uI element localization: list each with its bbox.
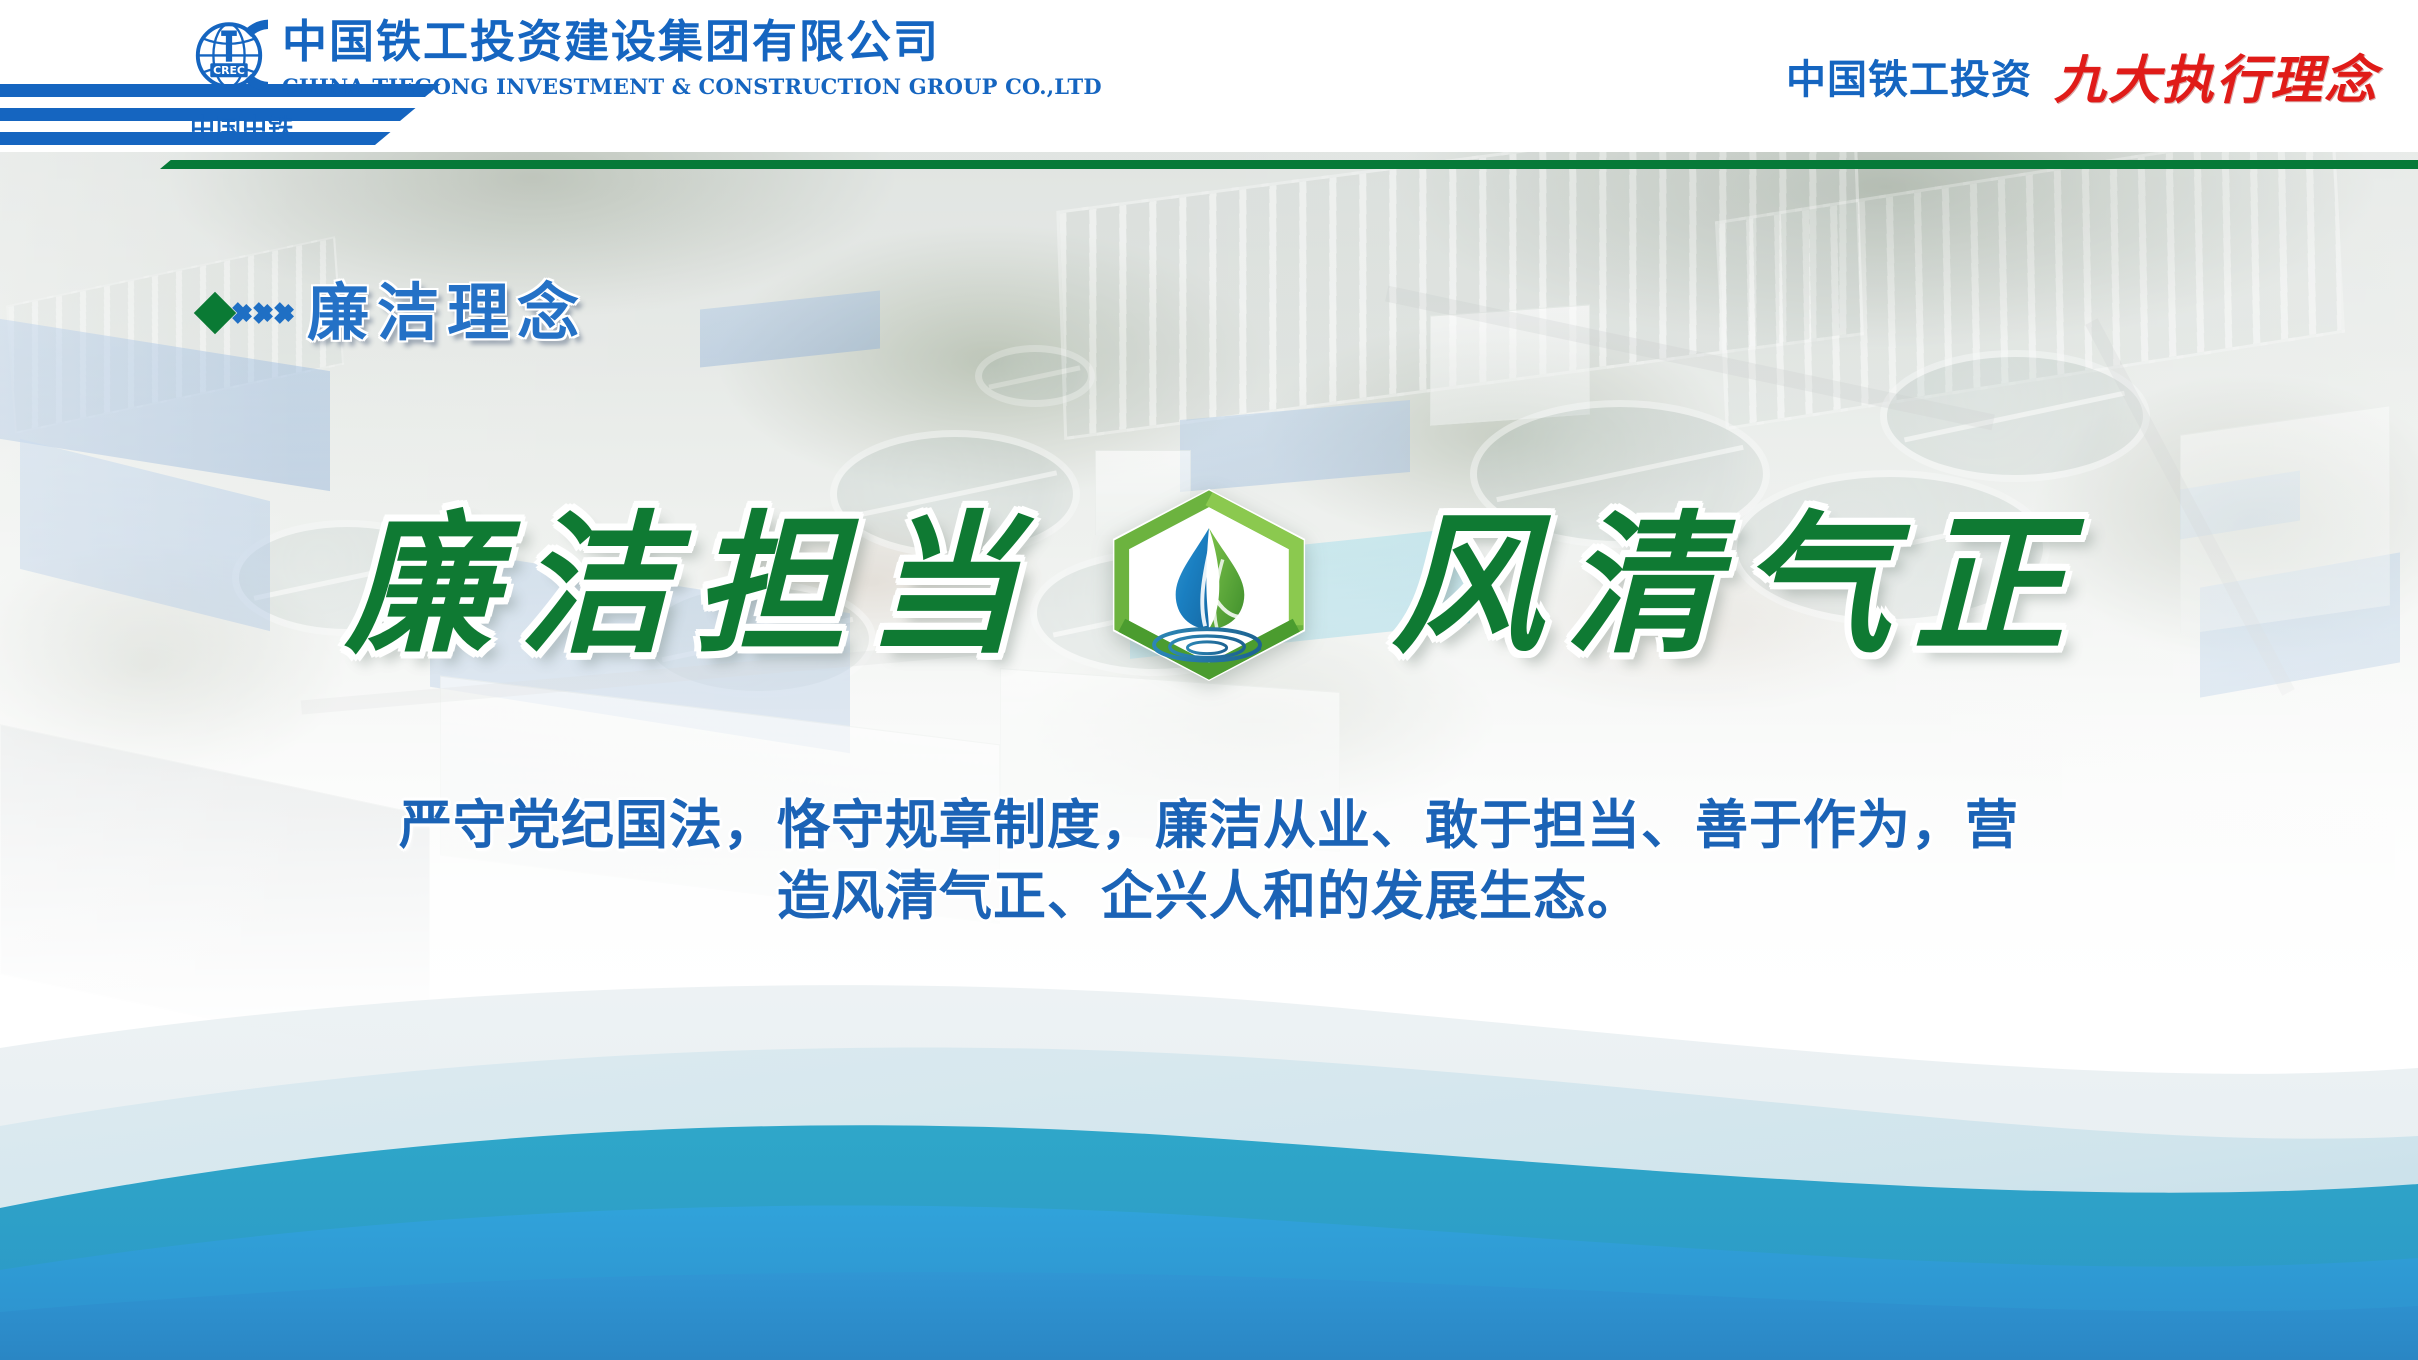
hexagon-water-drop-emblem-icon xyxy=(1101,485,1317,685)
logo-caption: 中国中铁 xyxy=(190,108,292,144)
poster-canvas: CREC 中国中铁 中国铁工投资建设集团有限公司 CHINA TIEGONG I… xyxy=(0,0,2418,1360)
tagline-highlight: 九大执行理念 xyxy=(2054,38,2378,113)
svg-text:CREC: CREC xyxy=(213,64,245,77)
company-name-cn: 中国铁工投资建设集团有限公司 xyxy=(282,18,1102,66)
company-brand-block: CREC 中国中铁 中国铁工投资建设集团有限公司 CHINA TIEGONG I… xyxy=(190,16,1102,99)
diamond-chevrons-icon xyxy=(200,296,293,330)
body-paragraph-block: 严守党纪国法，恪守规章制度，廉洁从业、敢于担当、善于作为，营造风清气正、企兴人和… xyxy=(399,790,2019,932)
slogan-right: 风清气正 xyxy=(1377,509,2087,661)
slogan-left: 廉洁担当 xyxy=(331,509,1041,661)
body-paragraph-text: 严守党纪国法，恪守规章制度，廉洁从业、敢于担当、善于作为，营造风清气正、企兴人和… xyxy=(399,790,2019,932)
section-title-block: 廉洁理念 xyxy=(200,282,587,344)
crec-globe-logo-icon: CREC 中国中铁 xyxy=(190,16,268,98)
page-header: CREC 中国中铁 中国铁工投资建设集团有限公司 CHINA TIEGONG I… xyxy=(0,0,2418,152)
company-name-en: CHINA TIEGONG INVESTMENT & CONSTRUCTION … xyxy=(282,74,1102,99)
page-title: 廉洁理念 xyxy=(307,282,587,344)
header-tagline-block: 中国铁工投资 九大执行理念 xyxy=(1786,38,2378,113)
hero-slogan-row: 廉洁担当 xyxy=(0,480,2418,690)
bottom-wave-decoration xyxy=(0,940,2418,1360)
tagline-prefix: 中国铁工投资 xyxy=(1786,47,2032,105)
